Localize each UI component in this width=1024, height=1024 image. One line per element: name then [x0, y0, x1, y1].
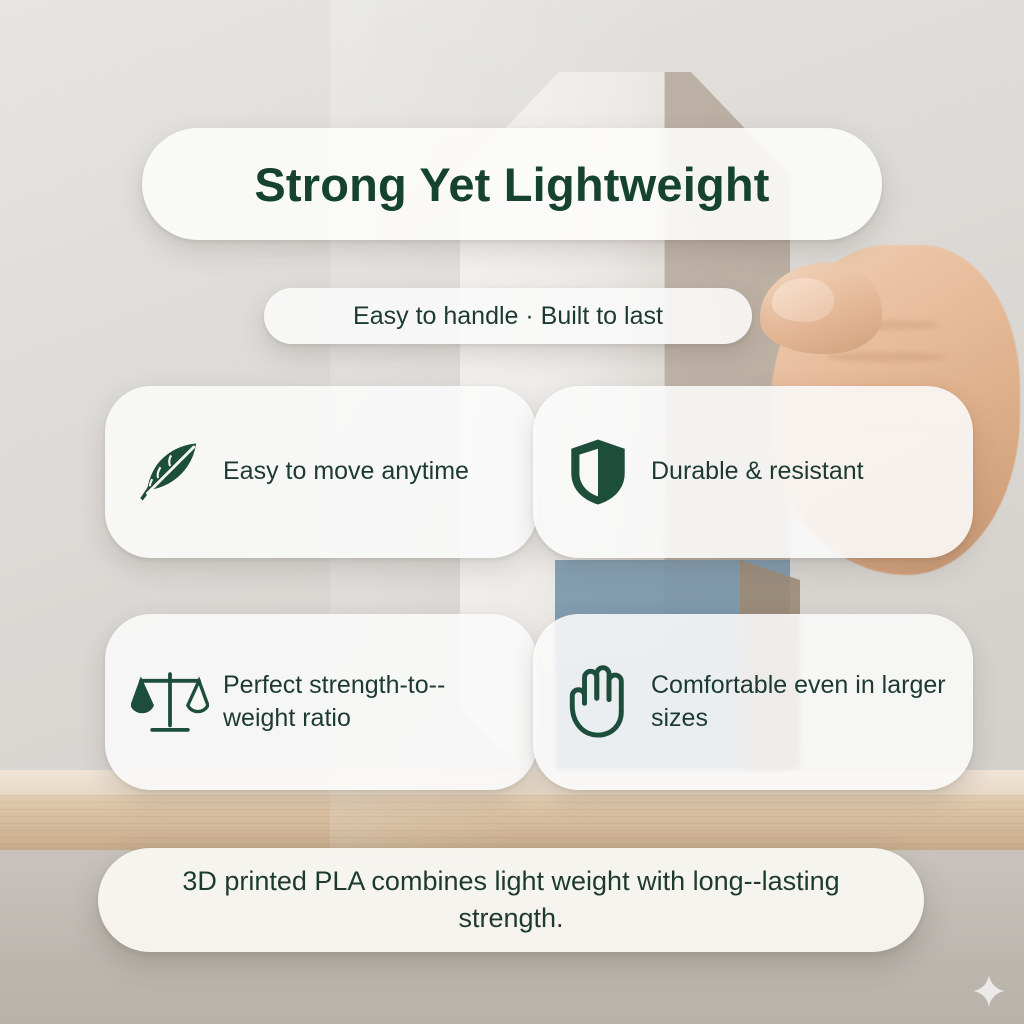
sparkle-icon: [972, 974, 1006, 1008]
feature-label: Comfortable even in larger sizes: [651, 669, 947, 736]
feature-label: Durable & resistant: [651, 455, 864, 489]
footer-text: 3D printed PLA combines light weight wit…: [98, 863, 924, 938]
feature-label: Easy to move anytime: [223, 455, 469, 489]
footer-card: 3D printed PLA combines light weight wit…: [98, 848, 924, 952]
feather-icon: [131, 433, 209, 511]
feature-card-strength-to-weight[interactable]: Perfect strength-to--weight ratio: [105, 614, 537, 790]
open-hand-icon: [559, 663, 637, 741]
feature-label: Perfect strength-to--weight ratio: [223, 669, 511, 736]
page-subtitle: Easy to handle · Built to last: [353, 302, 663, 331]
infographic-stage: Strong Yet Lightweight Easy to handle · …: [0, 0, 1024, 1024]
thumbnail: [772, 278, 834, 322]
hand-crease: [826, 352, 946, 362]
subtitle-card: Easy to handle · Built to last: [264, 288, 752, 344]
scale-icon: [131, 663, 209, 741]
shield-icon: [559, 433, 637, 511]
wood-grain-texture: [0, 795, 1024, 853]
feature-card-easy-to-move[interactable]: Easy to move anytime: [105, 386, 537, 558]
title-card: Strong Yet Lightweight: [142, 128, 882, 240]
feature-card-durable[interactable]: Durable & resistant: [533, 386, 973, 558]
page-title: Strong Yet Lightweight: [254, 157, 769, 212]
feature-card-comfortable[interactable]: Comfortable even in larger sizes: [533, 614, 973, 790]
